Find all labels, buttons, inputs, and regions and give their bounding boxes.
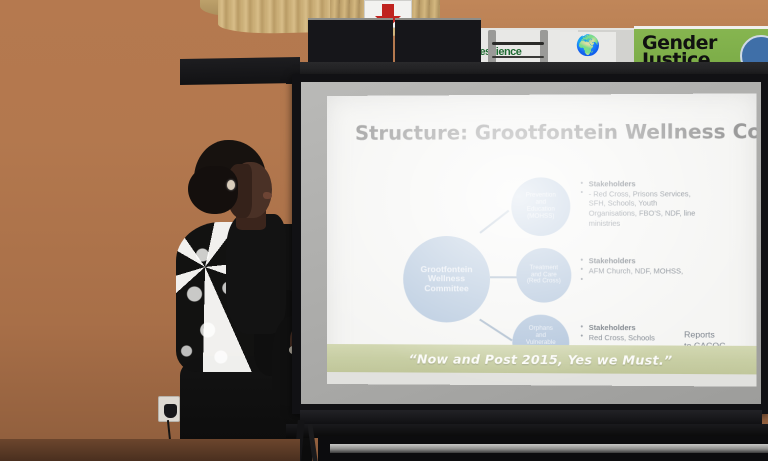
bullet-item: Stakeholders xyxy=(581,323,696,333)
connector-to-ovc xyxy=(479,319,512,341)
coat-of-arms-emblem-icon: 🌍 xyxy=(576,36,601,56)
mic-stand-left xyxy=(488,30,496,64)
bullet-item: Red Cross, Schools xyxy=(581,333,696,343)
connector-to-treatment xyxy=(490,276,518,278)
bullet-item: Stakeholders xyxy=(581,179,696,189)
slide-footer-band: “Now and Post 2015, Yes we Must.” xyxy=(327,344,756,374)
bullet-item: AFM Church, NDF, MOHSS, xyxy=(581,266,696,276)
slide-bottom-margin xyxy=(327,372,756,387)
node-grootfontein-wellness-committee: Grootfontein Wellness Committee xyxy=(403,236,490,323)
presenter-hair-back xyxy=(188,166,238,214)
bullets-prevention: Stakeholders - Red Cross, Prisons Servic… xyxy=(581,179,696,228)
connector-to-prevention xyxy=(479,210,509,234)
room-floor xyxy=(0,439,300,461)
bullets-treatment: Stakeholders AFM Church, NDF, MOHSS, xyxy=(581,256,696,276)
center-node-line3: Committee xyxy=(421,284,473,294)
presenter-scarf xyxy=(226,214,286,334)
presentation-slide: Structure: Grootfontein Wellness Committ… xyxy=(327,93,756,386)
slide-diagram: Grootfontein Wellness Committee Preventi… xyxy=(327,93,756,386)
bullets-ovc: Stakeholders Red Cross, Schools xyxy=(581,323,696,343)
mic-cross-bar-lower xyxy=(492,56,544,58)
treatment-line3: (Red Cross) xyxy=(527,279,561,286)
slide-footer-quote: “Now and Post 2015, Yes we Must.” xyxy=(409,351,673,367)
photo-scene: Resilience 🌍 NAMIBIA Gender Justice xyxy=(0,0,768,461)
screen-stand-strip xyxy=(330,444,768,453)
wall-power-socket xyxy=(158,396,180,422)
presenter-earring xyxy=(227,180,235,190)
node-prevention-and-education: Prevention and Education (MOHSS) xyxy=(511,177,570,236)
reports-line1: Reports xyxy=(684,329,725,341)
bullet-item: - Red Cross, Prisons Services, SFH, Scho… xyxy=(581,189,696,228)
mic-cross-bar xyxy=(492,42,544,45)
bullet-item: Stakeholders xyxy=(581,256,696,266)
presenter-lips xyxy=(263,192,272,199)
node-treatment-and-care: Treatment and Care (Red Cross) xyxy=(516,248,571,303)
front-ledge-left xyxy=(180,57,300,85)
power-plug xyxy=(164,404,177,418)
mic-stand-right xyxy=(540,30,548,64)
projection-screen-surface: Structure: Grootfontein Wellness Committ… xyxy=(301,82,761,404)
projection-screen-frame: Structure: Grootfontein Wellness Committ… xyxy=(292,74,768,414)
prevention-line4: (MOHSS) xyxy=(526,214,556,221)
